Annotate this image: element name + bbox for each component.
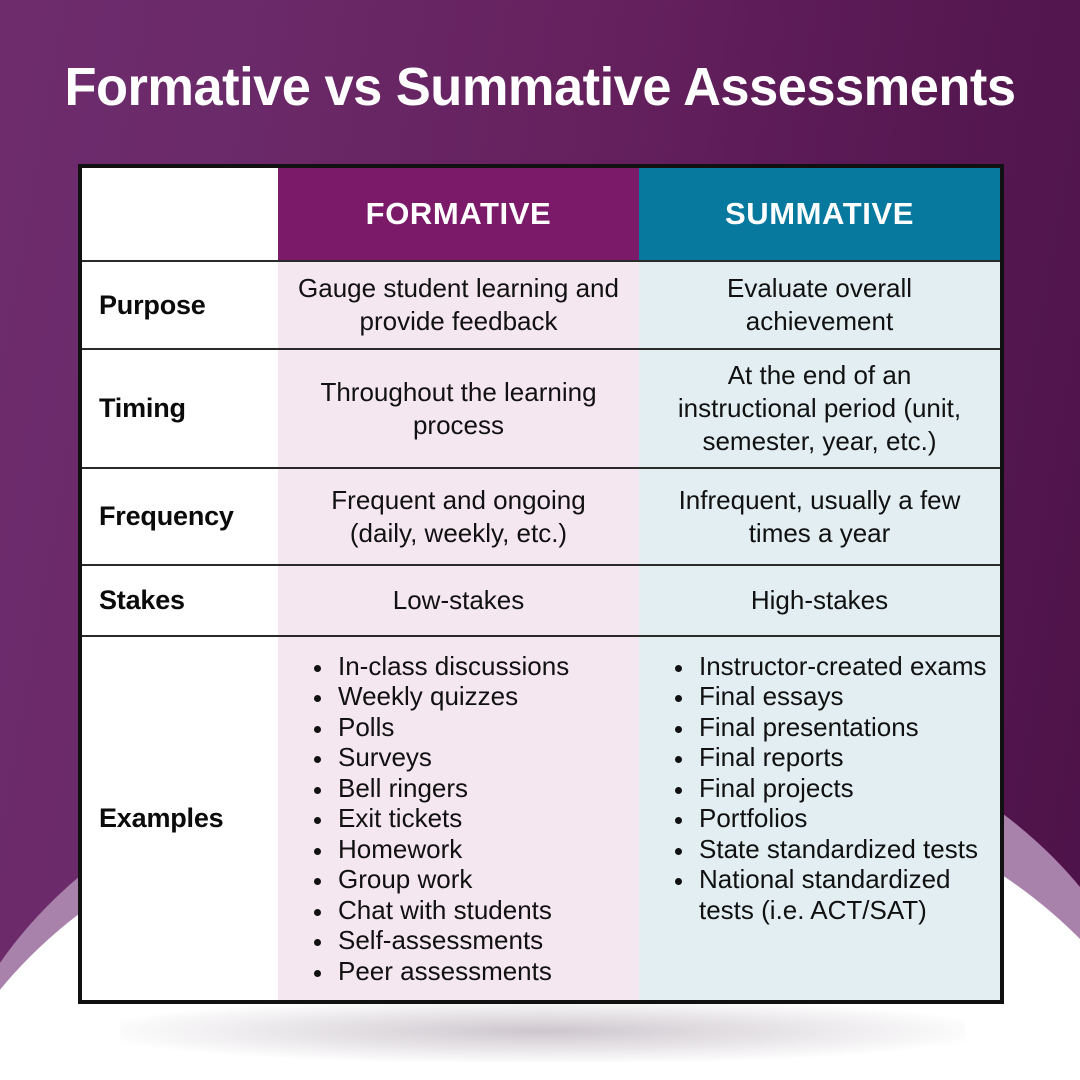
cell-purpose-formative: Gauge student learning and provide feedb… <box>278 262 639 348</box>
cell-frequency-formative: Frequent and ongoing (daily, weekly, etc… <box>278 469 639 564</box>
row-label-purpose: Purpose <box>82 262 278 348</box>
list-item: Peer assessments <box>334 956 569 987</box>
cell-timing-summative: At the end of an instructional period (u… <box>639 350 1000 467</box>
row-label-stakes: Stakes <box>82 566 278 634</box>
list-item: In-class discussions <box>334 651 569 682</box>
card-drop-shadow <box>120 1000 965 1062</box>
table-row: Purpose Gauge student learning and provi… <box>82 262 1000 350</box>
table-corner-cell <box>82 168 278 260</box>
cell-examples-formative: In-class discussionsWeekly quizzesPollsS… <box>278 637 639 1001</box>
row-label-examples: Examples <box>82 637 278 1001</box>
list-item: Homework <box>334 834 569 865</box>
cell-stakes-formative: Low-stakes <box>278 566 639 634</box>
cell-frequency-summative: Infrequent, usually a few times a year <box>639 469 1000 564</box>
list-item: Final essays <box>695 681 988 712</box>
list-item: Chat with students <box>334 895 569 926</box>
comparison-table: FORMATIVE SUMMATIVE Purpose Gauge studen… <box>78 164 1004 1004</box>
cell-stakes-summative: High-stakes <box>639 566 1000 634</box>
table-row: Examples In-class discussionsWeekly quiz… <box>82 637 1000 1001</box>
list-item: Portfolios <box>695 803 988 834</box>
table-row: Frequency Frequent and ongoing (daily, w… <box>82 469 1000 566</box>
list-item: Final projects <box>695 773 988 804</box>
list-item: Final presentations <box>695 712 988 743</box>
list-item: Group work <box>334 864 569 895</box>
column-header-formative: FORMATIVE <box>278 168 639 260</box>
list-item: Polls <box>334 712 569 743</box>
cell-timing-formative: Throughout the learning process <box>278 350 639 467</box>
list-item: State standardized tests <box>695 834 988 865</box>
cell-purpose-summative: Evaluate overall achievement <box>639 262 1000 348</box>
list-item: Exit tickets <box>334 803 569 834</box>
formative-examples-list: In-class discussionsWeekly quizzesPollsS… <box>308 651 569 987</box>
infographic-canvas: Formative vs Summative Assessments FORMA… <box>0 0 1080 1080</box>
table-row: Timing Throughout the learning process A… <box>82 350 1000 469</box>
table-row: Stakes Low-stakes High-stakes <box>82 566 1000 636</box>
list-item: Weekly quizzes <box>334 681 569 712</box>
list-item: Surveys <box>334 742 569 773</box>
row-label-timing: Timing <box>82 350 278 467</box>
list-item: Instructor-created exams <box>695 651 988 682</box>
page-title: Formative vs Summative Assessments <box>16 56 1064 118</box>
column-header-summative: SUMMATIVE <box>639 168 1000 260</box>
list-item: Bell ringers <box>334 773 569 804</box>
summative-examples-list: Instructor-created examsFinal essaysFina… <box>669 651 988 926</box>
list-item: National standardized tests (i.e. ACT/SA… <box>695 864 988 925</box>
list-item: Self-assessments <box>334 925 569 956</box>
row-label-frequency: Frequency <box>82 469 278 564</box>
list-item: Final reports <box>695 742 988 773</box>
table-header-row: FORMATIVE SUMMATIVE <box>82 168 1000 262</box>
cell-examples-summative: Instructor-created examsFinal essaysFina… <box>639 637 1000 1001</box>
